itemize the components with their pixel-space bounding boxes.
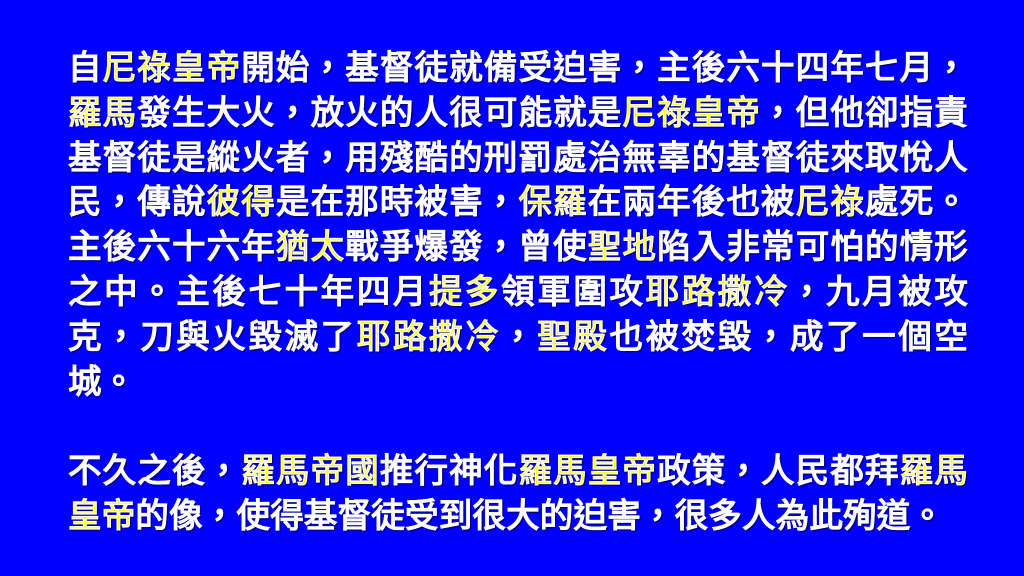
- highlighted-term: 提多: [429, 272, 501, 311]
- body-text-run: 的像，使得基督徒受到很大的迫害，很多人為此殉道。: [135, 496, 944, 535]
- highlighted-term: 保羅: [518, 182, 587, 221]
- highlighted-term: 尼祿皇帝: [103, 48, 242, 87]
- body-text-run: 發生大火，放火的人很可能就是: [137, 93, 622, 132]
- body-text-run: 政策，人民都拜: [657, 451, 900, 490]
- body-text-run: 自: [68, 48, 103, 87]
- body-text-run: 開始，基督徒就備受迫害，主後六十四年七月，: [241, 48, 968, 87]
- highlighted-term: 尼祿: [796, 182, 865, 221]
- highlighted-term: 彼得: [207, 182, 276, 221]
- highlighted-term: 耶路撒冷: [646, 272, 790, 311]
- highlighted-term: 羅馬帝國: [241, 451, 380, 490]
- slide-canvas: 自尼祿皇帝開始，基督徒就備受迫害，主後六十四年七月，羅馬發生大火，放火的人很可能…: [0, 0, 1024, 576]
- highlighted-term: 聖殿: [537, 317, 609, 356]
- body-text-run: 不久之後，: [68, 451, 241, 490]
- paragraph-1: 自尼祿皇帝開始，基督徒就備受迫害，主後六十四年七月，羅馬發生大火，放火的人很可能…: [68, 46, 968, 404]
- body-text-run: 推行神化: [380, 451, 519, 490]
- highlighted-term: 尼祿皇帝: [622, 93, 761, 132]
- paragraph-2: 不久之後，羅馬帝國推行神化羅馬皇帝政策，人民都拜羅馬皇帝的像，使得基督徒受到很大…: [68, 449, 968, 539]
- body-text-run: 是在那時被害，: [276, 182, 519, 221]
- body-text-run: 戰爭爆發，曾使: [345, 227, 588, 266]
- body-text-run: ，: [501, 317, 537, 356]
- highlighted-term: 聖地: [588, 227, 657, 266]
- highlighted-term: 耶路撒冷: [357, 317, 501, 356]
- highlighted-term: 猶太: [276, 227, 345, 266]
- body-text-run: 領軍圍攻: [501, 272, 645, 311]
- slide-text-body: 自尼祿皇帝開始，基督徒就備受迫害，主後六十四年七月，羅馬發生大火，放火的人很可能…: [68, 46, 968, 539]
- highlighted-term: 羅馬皇帝: [518, 451, 657, 490]
- highlighted-term: 羅馬: [68, 93, 137, 132]
- body-text-run: 在兩年後也被: [588, 182, 796, 221]
